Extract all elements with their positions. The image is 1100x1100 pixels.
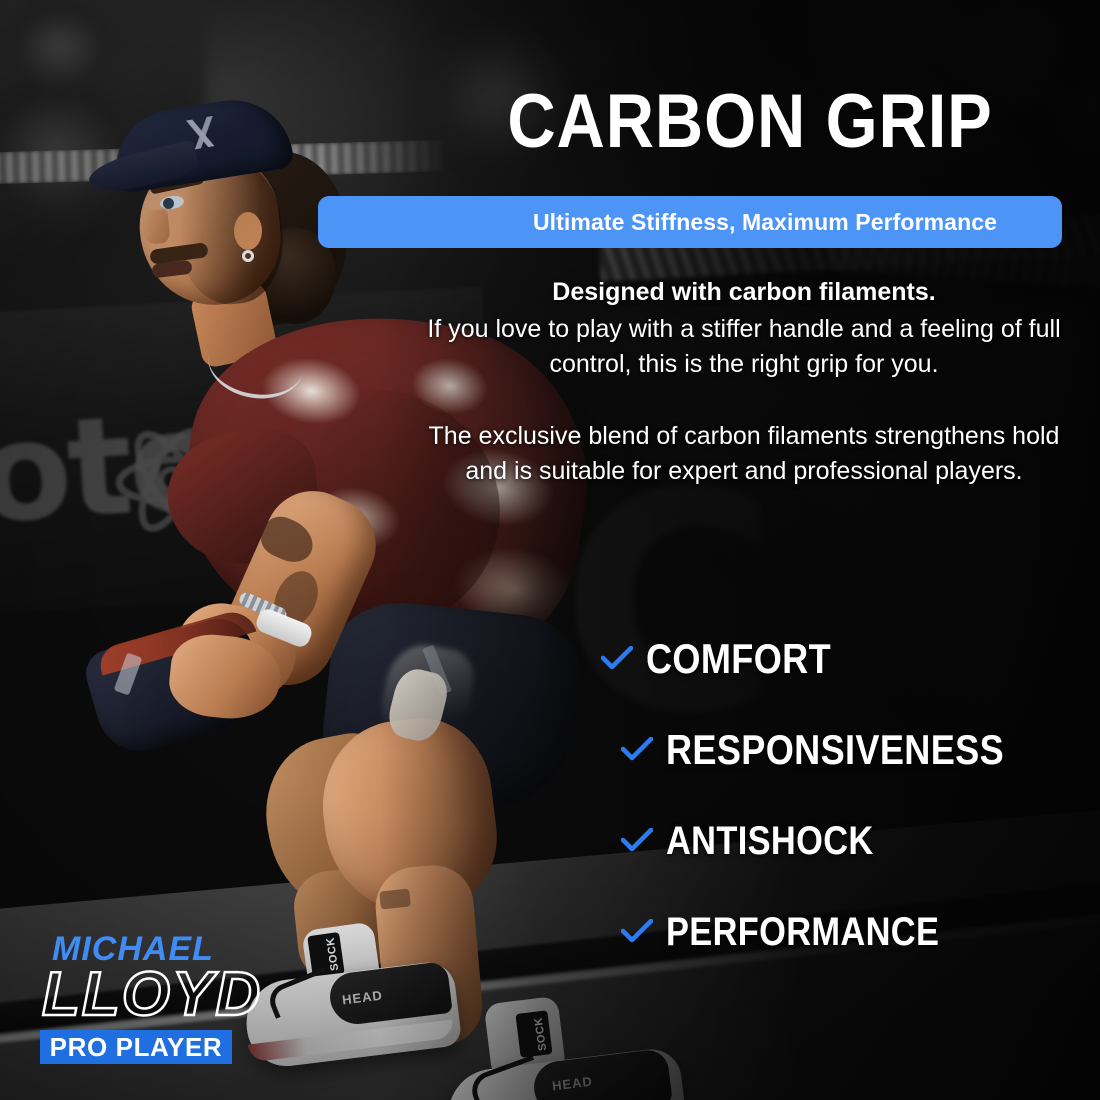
feature-label: ANTISHOCK bbox=[666, 819, 874, 864]
description-paragraph-1: If you love to play with a stiffer handl… bbox=[420, 312, 1068, 383]
feature-item-performance: PERFORMANCE bbox=[620, 909, 1060, 955]
page-title: CARBON GRIP bbox=[477, 84, 1023, 160]
feature-label: COMFORT bbox=[646, 635, 831, 683]
feature-label: PERFORMANCE bbox=[666, 910, 939, 955]
athlete-role-banner: PRO PLAYER bbox=[40, 1030, 232, 1064]
description-spacer bbox=[420, 383, 1068, 419]
subtitle-text: Ultimate Stiffness, Maximum Performance bbox=[318, 196, 1062, 248]
feature-item-comfort: COMFORT bbox=[600, 636, 1060, 682]
check-icon bbox=[620, 733, 654, 767]
feature-label: RESPONSIVENESS bbox=[666, 726, 1004, 774]
athlete-role: PRO PLAYER bbox=[50, 1032, 223, 1063]
content-overlay: CARBON GRIP Ultimate Stiffness, Maximum … bbox=[0, 0, 1100, 1100]
feature-item-antishock: ANTISHOCK bbox=[620, 818, 1060, 864]
check-icon bbox=[620, 824, 654, 858]
description-block: Designed with carbon filaments. If you l… bbox=[420, 276, 1068, 490]
athlete-badge: MICHAEL LLOYD PRO PLAYER bbox=[40, 932, 270, 1064]
description-lead: Designed with carbon filaments. bbox=[420, 276, 1068, 310]
athlete-last-name: LLOYD bbox=[42, 964, 270, 1026]
feature-list: COMFORT RESPONSIVENESS ANTISHOCK bbox=[600, 636, 1060, 1000]
check-icon bbox=[600, 642, 634, 676]
description-paragraph-2: The exclusive blend of carbon filaments … bbox=[420, 419, 1068, 490]
product-poster: otom C bbox=[0, 0, 1100, 1100]
check-icon bbox=[620, 915, 654, 949]
feature-item-responsiveness: RESPONSIVENESS bbox=[620, 727, 1060, 773]
